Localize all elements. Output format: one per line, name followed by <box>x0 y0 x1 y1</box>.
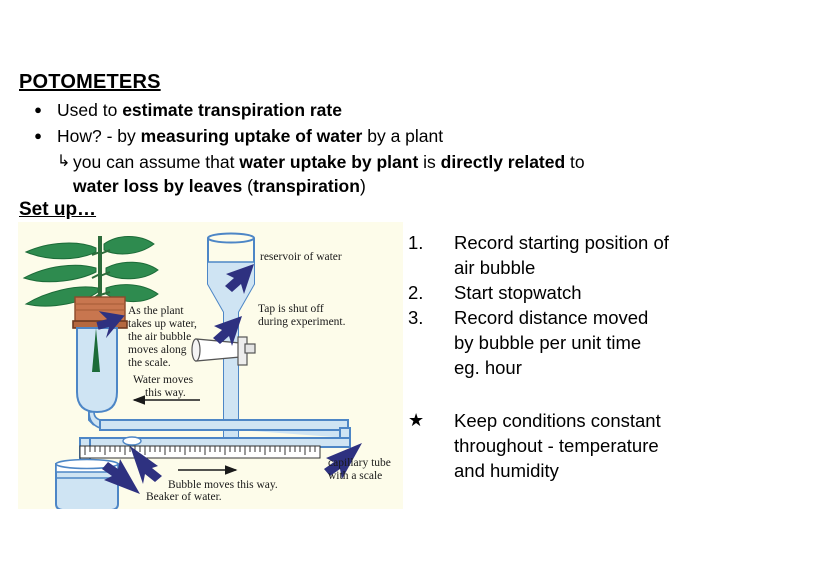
intro-bullet-list: ● Used to estimate transpiration rate ● … <box>19 98 809 198</box>
label-bubble-moves: Bubble moves this way. <box>168 479 278 491</box>
label-water-moves-line2: this way. <box>145 387 186 399</box>
list-item: ● How? - by measuring uptake of water by… <box>19 124 809 148</box>
air-bubble <box>123 437 141 445</box>
label-tap-line1: Tap is shut off <box>258 303 324 315</box>
label-uptake-line1: As the plant <box>128 305 184 317</box>
sub-bullet-line-1: you can assume that water uptake by plan… <box>73 150 809 174</box>
step-text-3: Record distance moved by bubble per unit… <box>454 305 818 380</box>
sub-list-item: ↳ you can assume that water uptake by pl… <box>57 150 809 174</box>
bullet-text-1: Used to estimate transpiration rate <box>57 98 809 122</box>
label-capillary-line1: capillary tube <box>328 457 391 469</box>
page-title: POTOMETERS <box>19 71 161 94</box>
step-number-2: 2. <box>408 280 454 305</box>
label-water-moves-line1: Water moves <box>133 374 194 386</box>
bullet-dot-icon: ● <box>19 98 57 122</box>
keep-conditions-text: Keep conditions constant throughout - te… <box>454 408 818 483</box>
step-text-2: Start stopwatch <box>454 280 818 305</box>
star-icon: ★ <box>408 408 454 433</box>
section-title-setup: Set up… <box>19 199 96 221</box>
label-tap-line2: during experiment. <box>258 316 346 328</box>
step-text-1: Record starting position of air bubble <box>454 230 818 280</box>
label-beaker: Beaker of water. <box>146 491 222 503</box>
bullet-text-2: How? - by measuring uptake of water by a… <box>57 124 809 148</box>
list-item: ★ Keep conditions constant throughout - … <box>408 408 818 483</box>
label-reservoir: reservoir of water <box>260 251 342 263</box>
label-uptake-line3: the air bubble <box>128 331 191 343</box>
list-item: ● Used to estimate transpiration rate <box>19 98 809 122</box>
procedure-steps-list: 1. Record starting position of air bubbl… <box>408 230 818 380</box>
bullet-dot-icon: ● <box>19 124 57 148</box>
list-item: 3. Record distance moved by bubble per u… <box>408 305 818 380</box>
list-item: 2. Start stopwatch <box>408 280 818 305</box>
label-capillary-line2: with a scale <box>328 470 382 482</box>
label-uptake-line5: the scale. <box>128 357 171 369</box>
step-number-1: 1. <box>408 230 454 255</box>
potometer-diagram: reservoir of water Tap is shut off durin… <box>18 222 403 509</box>
label-uptake-line4: moves along <box>128 344 187 356</box>
label-uptake-line2: takes up water, <box>128 318 197 330</box>
step-number-3: 3. <box>408 305 454 330</box>
list-item: 1. Record starting position of air bubbl… <box>408 230 818 280</box>
sub-bullet-line-2: water loss by leaves (transpiration) <box>73 174 809 198</box>
keep-conditions-note: ★ Keep conditions constant throughout - … <box>408 408 818 483</box>
arrow-hook-icon: ↳ <box>57 150 73 174</box>
